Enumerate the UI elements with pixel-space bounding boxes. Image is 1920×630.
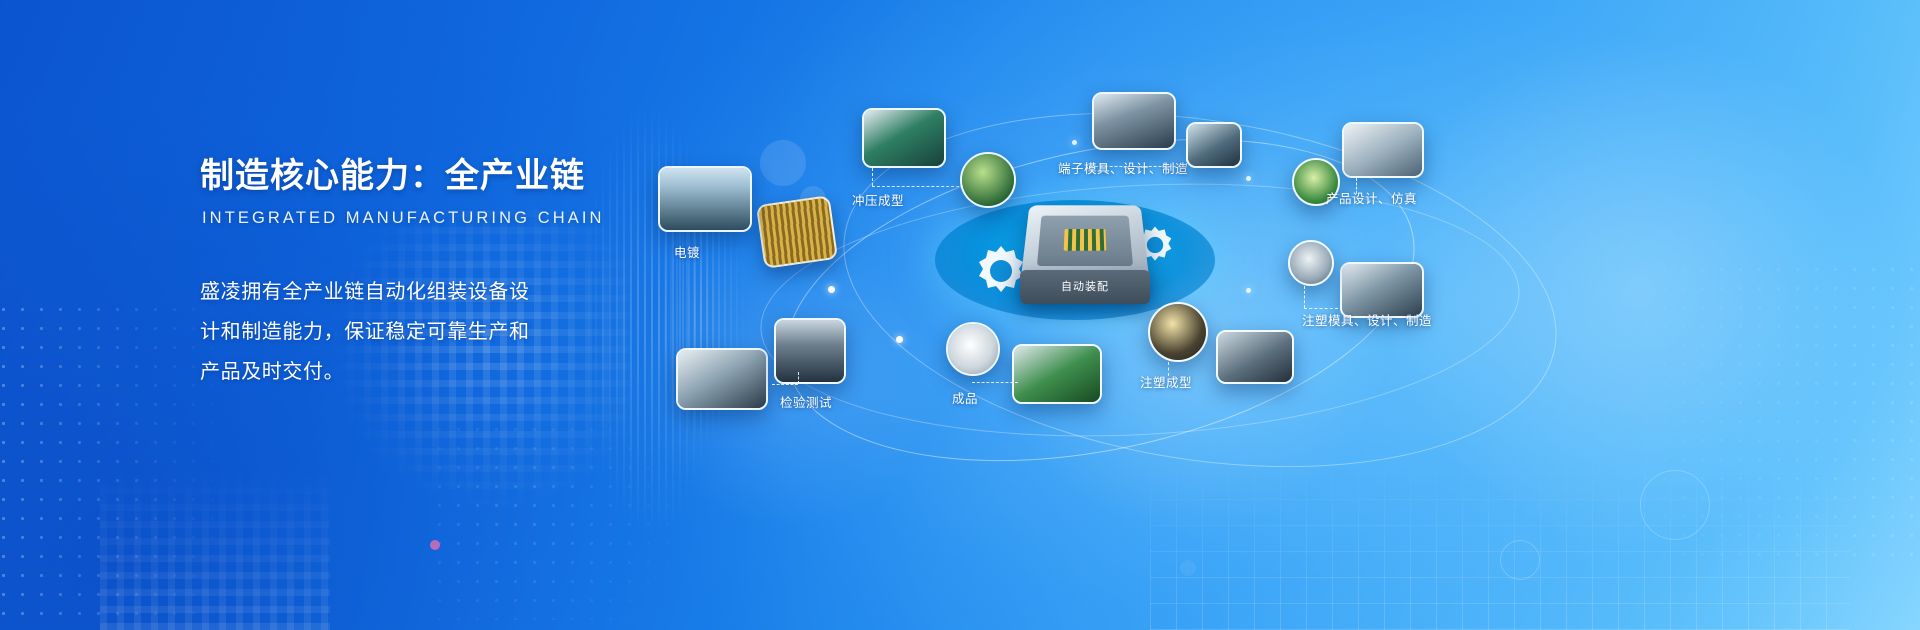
node-thumbnail[interactable]: [1342, 122, 1424, 178]
node-label: 检验测试: [780, 392, 832, 411]
manufacturing-chain-diagram: 自动装配 电镀 冲压成型: [640, 0, 1920, 630]
photo-test-rack: [776, 320, 844, 382]
photo-injection-forming: [1150, 304, 1206, 360]
orbit-node-dot: [1246, 176, 1251, 181]
node-label: 成品: [952, 388, 978, 407]
center-badge: 自动装配: [1020, 278, 1150, 294]
node-thumbnail[interactable]: [658, 166, 752, 232]
photo-product-design: [1344, 124, 1422, 176]
node-thumbnail[interactable]: [1216, 330, 1294, 384]
connector-line: [972, 382, 1018, 383]
node-thumbnail[interactable]: [1012, 344, 1102, 404]
node-thumbnail[interactable]: [1288, 240, 1334, 286]
description-paragraph: 盛凌拥有全产业链自动化组装设备设 计和制造能力，保证稳定可靠生产和 产品及时交付…: [200, 272, 620, 392]
square-pattern: [100, 470, 330, 630]
node-thumbnail[interactable]: [676, 348, 768, 410]
photo-stamping: [864, 110, 944, 166]
orbit-node-dot: [1246, 288, 1251, 293]
photo-terminal-detail: [1188, 124, 1240, 166]
connector-line: [798, 372, 799, 384]
node-thumbnail[interactable]: [1148, 302, 1208, 362]
paragraph-line: 产品及时交付。: [200, 352, 620, 392]
photo-terminal-mold: [1094, 94, 1174, 148]
photo-production-line: [1014, 346, 1100, 402]
photo-forming-detail: [1218, 332, 1292, 382]
page-subtitle: INTEGRATED MANUFACTURING CHAIN: [202, 209, 620, 228]
photo-electroplating: [660, 168, 750, 230]
connector-line: [872, 168, 873, 186]
photo-stamping-detail: [962, 154, 1014, 206]
photo-injection-mold: [1342, 264, 1422, 316]
node-label: 冲压成型: [852, 190, 904, 209]
orbit-node-dot: [896, 336, 903, 343]
connector-line: [1304, 308, 1338, 309]
node-thumbnail[interactable]: [960, 152, 1016, 208]
paragraph-line: 计和制造能力，保证稳定可靠生产和: [200, 312, 620, 352]
node-label: 产品设计、仿真: [1326, 188, 1417, 207]
orbit-node-dot: [828, 286, 835, 293]
photo-inspection: [678, 350, 766, 408]
node-label: 端子模具、设计、制造: [1058, 158, 1188, 177]
connector-line: [772, 384, 798, 385]
node-label: 电镀: [674, 242, 700, 261]
node-thumbnail[interactable]: [946, 322, 1000, 376]
photo-finished-product: [948, 324, 998, 374]
node-label: 注塑成型: [1140, 372, 1192, 391]
node-thumbnail[interactable]: [774, 318, 846, 384]
banner-root: 制造核心能力：全产业链 INTEGRATED MANUFACTURING CHA…: [0, 0, 1920, 630]
paragraph-line: 盛凌拥有全产业链自动化组装设备设: [200, 272, 620, 312]
page-title: 制造核心能力：全产业链: [200, 148, 620, 197]
node-thumbnail[interactable]: [1092, 92, 1176, 150]
node-thumbnail[interactable]: [1186, 122, 1242, 168]
photo-mold-detail: [1290, 242, 1332, 284]
orbit-node-dot: [1072, 140, 1077, 145]
node-label: 注塑模具、设计、制造: [1302, 310, 1432, 329]
mold-cavity: [1037, 216, 1133, 266]
connector-line: [1304, 286, 1305, 308]
dot-pattern: [0, 300, 234, 630]
copy-block: 制造核心能力：全产业链 INTEGRATED MANUFACTURING CHA…: [200, 148, 620, 392]
copper-coil-graphic: [756, 195, 838, 269]
node-thumbnail[interactable]: [862, 108, 946, 168]
bubble-accent: [430, 540, 440, 550]
mold-core: [1064, 229, 1107, 251]
connector-line: [872, 186, 964, 187]
